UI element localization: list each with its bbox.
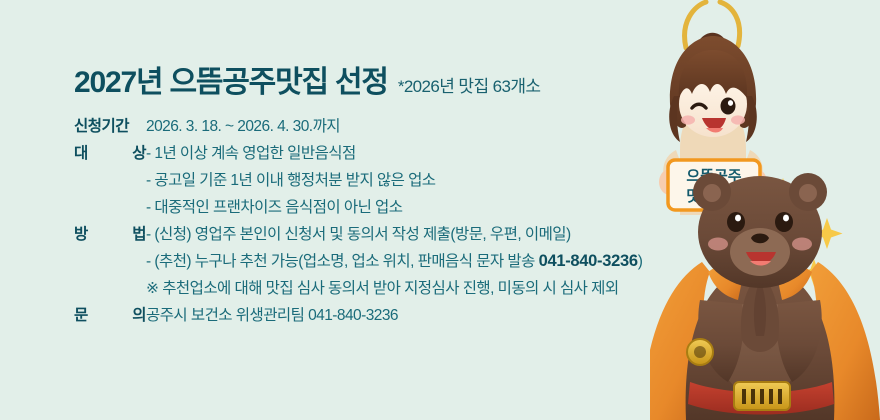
info-value-contact: 공주시 보건소 위생관리팀 041-840-3236 [146, 303, 398, 328]
info-value-eligibility-2: - 공고일 기준 1년 이내 행정처분 받지 않은 업소 [74, 168, 436, 193]
info-label-contact: 문 의 [74, 303, 146, 328]
page-title: 2027년 으뜸공주맛집 선정 [74, 66, 388, 99]
info-label-contact-char-2: 의 [132, 303, 146, 328]
info-value-application-period: 2026. 3. 18. ~ 2026. 4. 30.까지 [146, 114, 340, 139]
info-row-eligibility-cont-2: - 대중적인 프랜차이즈 음식점이 아닌 업소 [74, 195, 694, 220]
sign-line-2: 맛집선정 [686, 187, 741, 205]
method-2-prefix: - (추천) 누구나 추천 가능(업소명, 업소 위치, 판매음식 문자 발송 [146, 253, 539, 270]
info-value-method-1: - (신청) 영업주 본인이 신청서 및 동의서 작성 제출(방문, 우편, 이… [146, 222, 571, 247]
info-label-application-period: 신청기간 [74, 114, 146, 139]
info-row-method: 방 법 - (신청) 영업주 본인이 신청서 및 동의서 작성 제출(방문, 우… [74, 222, 694, 247]
info-label-contact-char-1: 문 [74, 303, 88, 328]
info-row-contact: 문 의 공주시 보건소 위생관리팀 041-840-3236 [74, 303, 694, 328]
promo-banner: 2027년 으뜸공주맛집 선정 *2026년 맛집 63개소 신청기간 2026… [0, 0, 880, 420]
title-note: *2026년 맛집 63개소 [398, 72, 541, 97]
sign-line-1: 으뜸공주 [686, 168, 741, 185]
info-value-method-note: ※ 추천업소에 대해 맛집 심사 동의서 받아 지정심사 진행, 미동의 시 심… [74, 276, 619, 301]
info-row-eligibility-cont-1: - 공고일 기준 1년 이내 행정처분 받지 않은 업소 [74, 168, 694, 193]
info-value-method-2: - (추천) 누구나 추천 가능(업소명, 업소 위치, 판매음식 문자 발송 … [74, 249, 642, 274]
sparkle-icon [776, 207, 843, 286]
info-value-eligibility-3: - 대중적인 프랜차이즈 음식점이 아닌 업소 [74, 195, 402, 220]
info-row-method-cont-1: - (추천) 누구나 추천 가능(업소명, 업소 위치, 판매음식 문자 발송 … [74, 249, 694, 274]
info-label-method-char-2: 법 [132, 222, 146, 247]
sparkle-icon [759, 178, 803, 220]
info-label-eligibility-char-1: 대 [74, 141, 88, 166]
recommendation-phone-number: 041-840-3236 [539, 252, 638, 270]
info-row-eligibility: 대 상 - 1년 이상 계속 영업한 일반음식점 [74, 141, 694, 166]
info-label-eligibility-char-2: 상 [132, 141, 146, 166]
info-value-eligibility-1: - 1년 이상 계속 영업한 일반음식점 [146, 141, 356, 166]
info-row-method-note: ※ 추천업소에 대해 맛집 심사 동의서 받아 지정심사 진행, 미동의 시 심… [74, 276, 694, 301]
info-label-method-char-1: 방 [74, 222, 88, 247]
title-row: 2027년 으뜸공주맛집 선정 *2026년 맛집 63개소 [74, 66, 694, 99]
info-label-eligibility: 대 상 [74, 141, 146, 166]
info-row-application-period: 신청기간 2026. 3. 18. ~ 2026. 4. 30.까지 [74, 114, 694, 139]
info-label-method: 방 법 [74, 222, 146, 247]
info-table: 신청기간 2026. 3. 18. ~ 2026. 4. 30.까지 대 상 -… [74, 114, 694, 328]
method-2-suffix: ) [638, 253, 643, 270]
banner-text-column: 2027년 으뜸공주맛집 선정 *2026년 맛집 63개소 신청기간 2026… [74, 66, 694, 328]
